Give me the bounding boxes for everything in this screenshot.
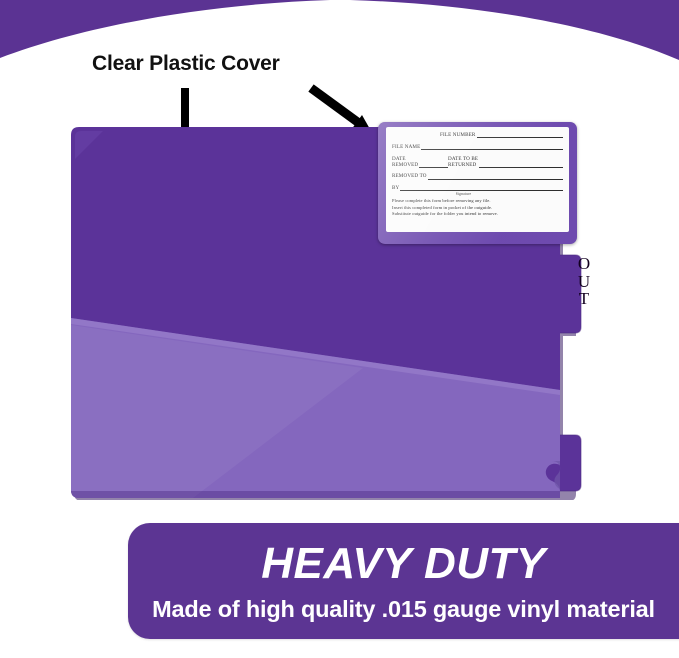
page-title: Clear Plastic Cover [92,52,280,76]
outguide-form-card: FILE NUMBER FILE NAME DATE REMOVED [386,127,569,232]
form-row-file-number: FILE NUMBER [392,132,563,138]
date-returned-line2: RETURNED [448,162,478,168]
date-returned-label: DATE TO BE RETURNED [448,156,478,168]
heavy-duty-banner: HEAVY DUTY Made of high quality .015 gau… [128,523,679,639]
date-removed-line2: REMOVED [392,162,418,168]
form-row-by: BY [392,185,563,191]
form-instructions: Please complete this form before removin… [392,198,563,217]
clear-plastic-pocket: FILE NUMBER FILE NAME DATE REMOVED [378,122,577,244]
by-label: BY [392,185,399,191]
instruction-line-3: Substitute outguide for the folder you i… [392,211,563,217]
out-letter-o: O [573,255,595,273]
by-rule [400,185,563,191]
removed-to-rule [428,174,563,180]
top-decoration [0,0,679,60]
top-left-swoosh [0,0,330,58]
file-name-rule [421,144,563,150]
date-returned-group: DATE TO BE RETURNED [448,156,563,168]
date-returned-rule [479,162,563,168]
out-tab-label: O U T [573,255,595,308]
date-removed-group: DATE REMOVED [392,156,448,168]
date-removed-rule [419,162,448,168]
form-row-file-name: FILE NAME [392,144,563,150]
date-removed-label: DATE REMOVED [392,156,418,168]
file-number-rule [477,132,563,138]
banner-subtitle: Made of high quality .015 gauge vinyl ma… [128,596,679,623]
top-right-swoosh [350,0,679,60]
banner-title: HEAVY DUTY [128,539,679,589]
out-letter-u: U [573,273,595,291]
file-number-label: FILE NUMBER [440,132,475,138]
form-row-removed-to: REMOVED TO [392,173,563,179]
signature-caption: Signature [392,192,563,196]
file-name-label: FILE NAME [392,144,420,150]
removed-to-label: REMOVED TO [392,173,427,179]
form-row-dates: DATE REMOVED DATE TO BE RETURNED [392,156,563,168]
out-letter-t: T [573,290,595,308]
